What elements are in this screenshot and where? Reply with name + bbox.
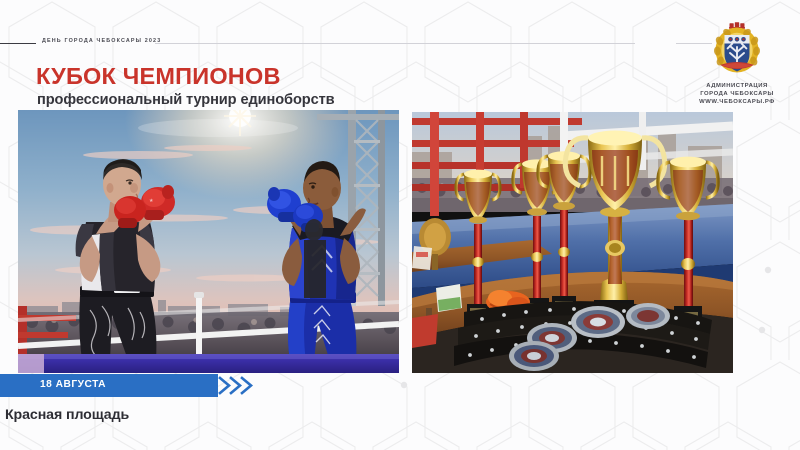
page-subtitle: профессиональный турнир единоборств <box>37 92 335 108</box>
header-eyebrow: ДЕНЬ ГОРОДА ЧЕБОКСАРЫ 2023 <box>42 38 161 44</box>
photo-trophies <box>412 112 733 373</box>
slide-root: ДЕНЬ ГОРОДА ЧЕБОКСАРЫ 2023 КУБОК ЧЕМПИОН… <box>0 0 800 450</box>
logo-text: АДМИНИСТРАЦИЯ ГОРОДА ЧЕБОКСАРЫ WWW.ЧЕБОК… <box>681 82 793 107</box>
page-title: КУБОК ЧЕМПИОНОВ <box>36 63 281 90</box>
logo-line-3: WWW.ЧЕБОКСАРЫ.РФ <box>681 98 793 106</box>
event-date-banner <box>0 374 218 397</box>
administration-logo[interactable]: АДМИНИСТРАЦИЯ ГОРОДА ЧЕБОКСАРЫ WWW.ЧЕБОК… <box>681 21 793 107</box>
event-venue: Красная площадь <box>5 407 129 423</box>
svg-text:★: ★ <box>149 198 154 204</box>
logo-line-2: ГОРОДА ЧЕБОКСАРЫ <box>681 90 793 98</box>
header-rule-left <box>0 43 36 44</box>
cheboksary-coat-of-arms-icon <box>709 21 765 79</box>
logo-line-1: АДМИНИСТРАЦИЯ <box>681 82 793 90</box>
chevron-right-icon <box>216 374 260 397</box>
photo-fighters: ★ <box>18 110 399 373</box>
event-date-label: 18 АВГУСТА <box>40 379 106 390</box>
header-rule-middle <box>155 43 635 44</box>
